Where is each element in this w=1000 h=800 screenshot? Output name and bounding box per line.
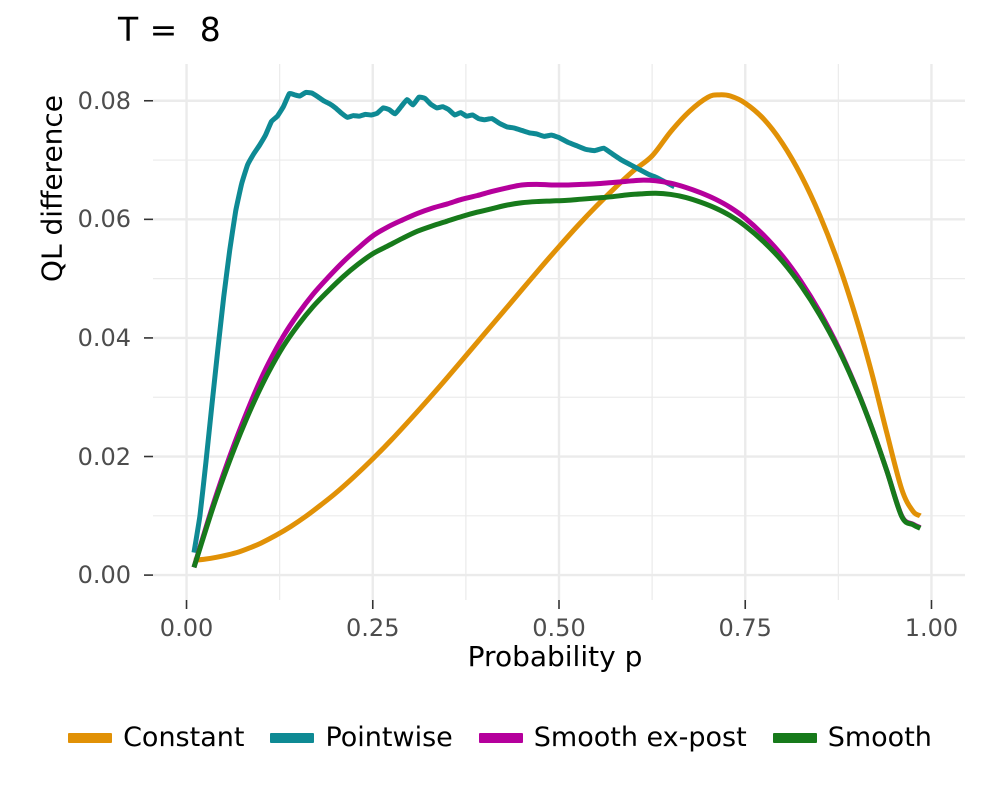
series-line-constant <box>194 95 920 561</box>
legend-label: Smooth <box>828 722 932 753</box>
x-tick-label: 0.25 <box>346 614 399 642</box>
x-tick-label: 1.00 <box>905 614 958 642</box>
y-tick-label: 0.02 <box>40 443 131 471</box>
legend-swatch-icon <box>270 733 314 743</box>
legend-swatch-icon <box>773 733 817 743</box>
x-tick-label: 0.50 <box>532 614 585 642</box>
legend-swatch-icon <box>68 733 112 743</box>
y-tick-label: 0.00 <box>40 561 131 589</box>
grid-major <box>153 64 965 600</box>
y-tick-label: 0.04 <box>40 324 131 352</box>
legend-label: Smooth ex-post <box>534 722 747 753</box>
chart-figure: T = 8 QL difference Probability p 0.000.… <box>0 0 1000 800</box>
chart-legend: ConstantPointwiseSmooth ex-postSmooth <box>0 722 1000 753</box>
series-lines <box>194 92 920 567</box>
series-line-pointwise <box>194 92 674 552</box>
x-tick-label: 0.00 <box>160 614 213 642</box>
y-tick-label: 0.08 <box>40 87 131 115</box>
x-tick-label: 0.75 <box>719 614 772 642</box>
axis-tick-marks <box>144 101 931 609</box>
legend-item-smooth[interactable]: Smooth <box>773 722 932 753</box>
legend-item-pointwise[interactable]: Pointwise <box>270 722 452 753</box>
y-tick-label: 0.06 <box>40 205 131 233</box>
legend-item-constant[interactable]: Constant <box>68 722 244 753</box>
legend-swatch-icon <box>479 733 523 743</box>
series-line-smooth-ex-post <box>194 180 920 567</box>
legend-item-smooth-ex-post[interactable]: Smooth ex-post <box>479 722 747 753</box>
chart-plot-area <box>0 0 1000 800</box>
legend-label: Constant <box>123 722 244 753</box>
legend-label: Pointwise <box>325 722 452 753</box>
